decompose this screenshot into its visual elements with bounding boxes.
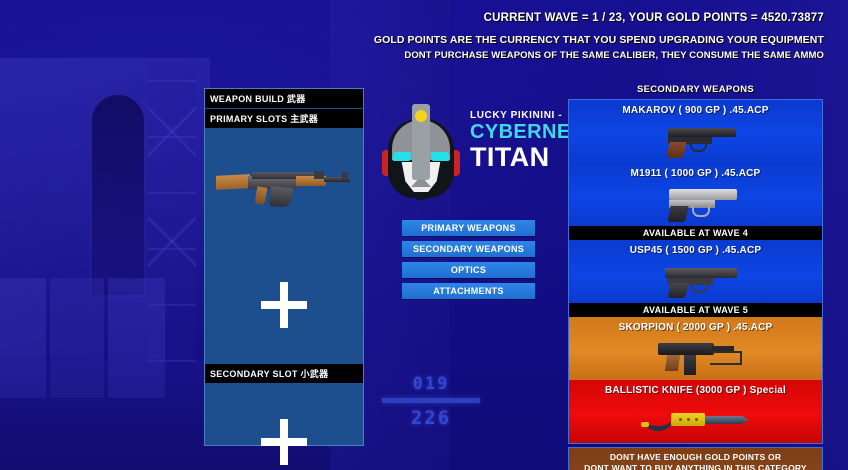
shop-item-label: SKORPION ( 2000 GP ) .45.ACP: [569, 317, 822, 333]
wave-unlock-divider-4: AVAILABLE AT WAVE 4: [569, 226, 822, 240]
m1911-pistol-icon: [569, 183, 822, 225]
caliber-warning-line: DONT PURCHASE WEAPONS OF THE SAME CALIBE…: [374, 50, 824, 61]
gold-info-line: GOLD POINTS ARE THE CURRENCY THAT YOU SP…: [374, 34, 824, 46]
shop-item-usp45[interactable]: USP45 ( 1500 GP ) .45.ACP: [569, 240, 822, 303]
shop-item-label: USP45 ( 1500 GP ) .45.ACP: [569, 240, 822, 256]
decline-line-2: DONT WANT TO BUY ANYTHING IN THIS CATEGO…: [569, 463, 822, 470]
game-logo: LUCKY PIKININI - CYBERNETIC TITAN: [378, 100, 558, 200]
game-shop-screen: CURRENT WAVE = 1 / 23, YOUR GOLD POINTS …: [0, 0, 848, 470]
makarov-pistol-icon: [569, 120, 822, 162]
shop-item-makarov[interactable]: MAKAROV ( 900 GP ) .45.ACP: [569, 100, 822, 163]
weapon-build-panel: WEAPON BUILD 武器 PRIMARY SLOTS 主武器 SECOND…: [204, 88, 364, 446]
robot-head-icon: [378, 104, 464, 200]
wave-and-gold-status: CURRENT WAVE = 1 / 23, YOUR GOLD POINTS …: [374, 12, 824, 24]
header-info: CURRENT WAVE = 1 / 23, YOUR GOLD POINTS …: [374, 12, 824, 61]
primary-slots-label: PRIMARY SLOTS 主武器: [205, 109, 363, 128]
menu-item-attachments[interactable]: ATTACHMENTS: [402, 283, 535, 299]
shop-item-label: M1911 ( 1000 GP ) .45.ACP: [569, 163, 822, 179]
category-menu: PRIMARY WEAPONS SECONDARY WEAPONS OPTICS…: [402, 220, 535, 304]
menu-item-secondary-weapons[interactable]: SECONDARY WEAPONS: [402, 241, 535, 257]
shop-item-ballistic-knife[interactable]: BALLISTIC KNIFE (3000 GP ) Special: [569, 380, 822, 443]
plus-icon: [261, 282, 307, 328]
shop-item-label: BALLISTIC KNIFE (3000 GP ) Special: [569, 380, 822, 396]
shop-panel: SECONDARY WEAPONS MAKAROV ( 900 GP ) .45…: [568, 84, 823, 470]
wave-unlock-divider-5: AVAILABLE AT WAVE 5: [569, 303, 822, 317]
decline-line-1: DONT HAVE ENOUGH GOLD POINTS OR: [569, 452, 822, 463]
secondary-slot-label: SECONDARY SLOT 小武器: [205, 364, 363, 383]
shop-item-m1911[interactable]: M1911 ( 1000 GP ) .45.ACP: [569, 163, 822, 226]
primary-empty-slot[interactable]: [205, 246, 363, 364]
ballistic-knife-icon: [569, 400, 822, 442]
shop-decline-button[interactable]: DONT HAVE ENOUGH GOLD POINTS OR DONT WAN…: [568, 447, 823, 470]
ammo-in-magazine: 019: [396, 374, 466, 394]
ammo-reserve: 226: [396, 407, 466, 429]
ammo-hud: 019 226: [396, 374, 466, 429]
plus-icon: [261, 419, 307, 465]
shop-item-list: MAKAROV ( 900 GP ) .45.ACP M1911 ( 1000 …: [568, 99, 823, 444]
scene-door: [92, 95, 144, 295]
menu-item-primary-weapons[interactable]: PRIMARY WEAPONS: [402, 220, 535, 236]
primary-weapon-slot[interactable]: [205, 128, 363, 246]
skorpion-smg-icon: [569, 337, 822, 379]
shop-panel-title: SECONDARY WEAPONS: [568, 84, 823, 99]
shop-item-label: MAKAROV ( 900 GP ) .45.ACP: [569, 100, 822, 116]
ammo-progress-bar: [382, 398, 480, 403]
secondary-empty-slot[interactable]: [205, 383, 363, 470]
ak47-rifle-icon: [214, 164, 354, 210]
usp45-pistol-icon: [569, 260, 822, 302]
menu-item-optics[interactable]: OPTICS: [402, 262, 535, 278]
weapon-build-title: WEAPON BUILD 武器: [205, 89, 363, 108]
shop-item-skorpion[interactable]: SKORPION ( 2000 GP ) .45.ACP: [569, 317, 822, 380]
